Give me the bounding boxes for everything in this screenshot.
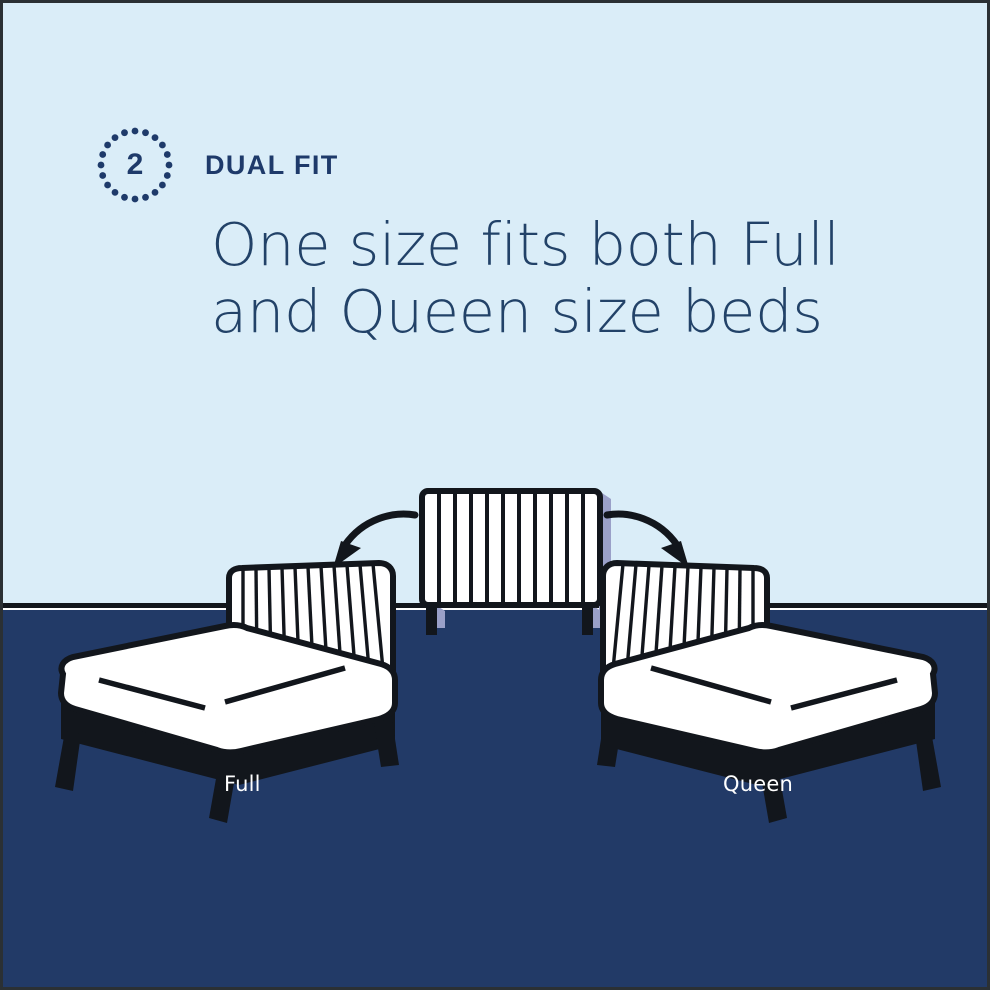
- step-badge: 2: [95, 125, 175, 205]
- arrow-to-queen-bed: [607, 514, 689, 568]
- section-eyebrow: DUAL FIT: [205, 150, 339, 181]
- full-bed-leg-front-left: [55, 731, 81, 791]
- bed-label-full: Full: [224, 772, 261, 796]
- infographic-card: 2 DUAL FIT One size fits both Full and Q…: [0, 0, 990, 990]
- queen-bed-leg-front-right: [915, 731, 941, 791]
- headline-line-1: One size fits both Full: [211, 211, 931, 278]
- step-badge-row: 2 DUAL FIT: [95, 125, 339, 205]
- center-headboard-panel: [422, 491, 600, 605]
- center-headboard: [422, 491, 611, 635]
- step-number: 2: [95, 125, 175, 205]
- page-title: One size fits both Full and Queen size b…: [211, 211, 931, 346]
- bed-label-queen: Queen: [723, 772, 793, 796]
- arrow-to-full-bed: [333, 514, 415, 568]
- headline-line-2: and Queen size beds: [211, 278, 931, 345]
